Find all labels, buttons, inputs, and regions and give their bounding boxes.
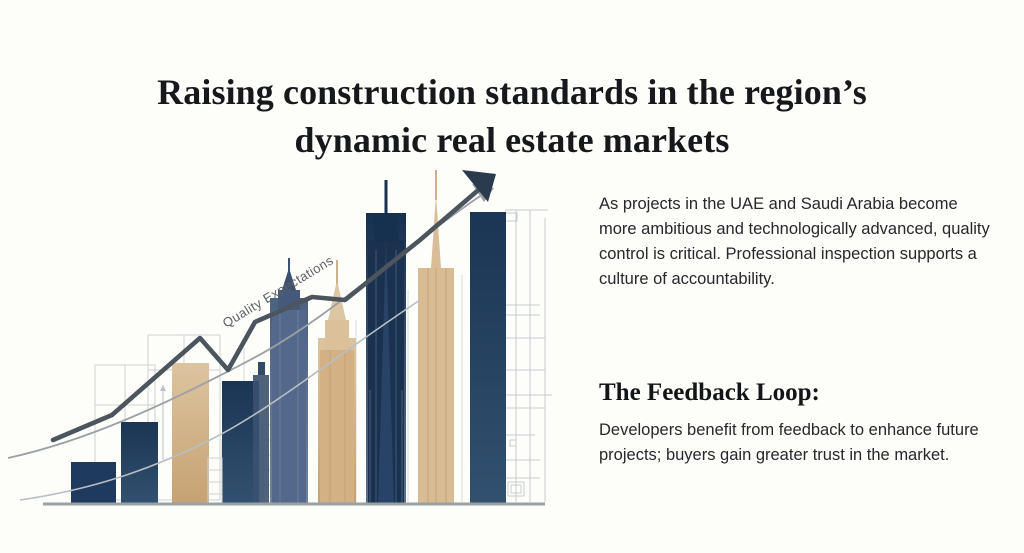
growth-bar-chart: Quality Expectations	[0, 140, 580, 540]
bar-8	[470, 212, 506, 503]
feedback-loop-heading: The Feedback Loop:	[599, 378, 991, 408]
bar-2	[121, 422, 158, 503]
feedback-loop-paragraph: Developers benefit from feedback to enha…	[599, 418, 991, 468]
right-text-column: As projects in the UAE and Saudi Arabia …	[599, 192, 991, 292]
slide-canvas: Raising construction standards in the re…	[0, 0, 1024, 553]
bar-1	[71, 462, 116, 503]
intro-paragraph: As projects in the UAE and Saudi Arabia …	[599, 192, 991, 292]
